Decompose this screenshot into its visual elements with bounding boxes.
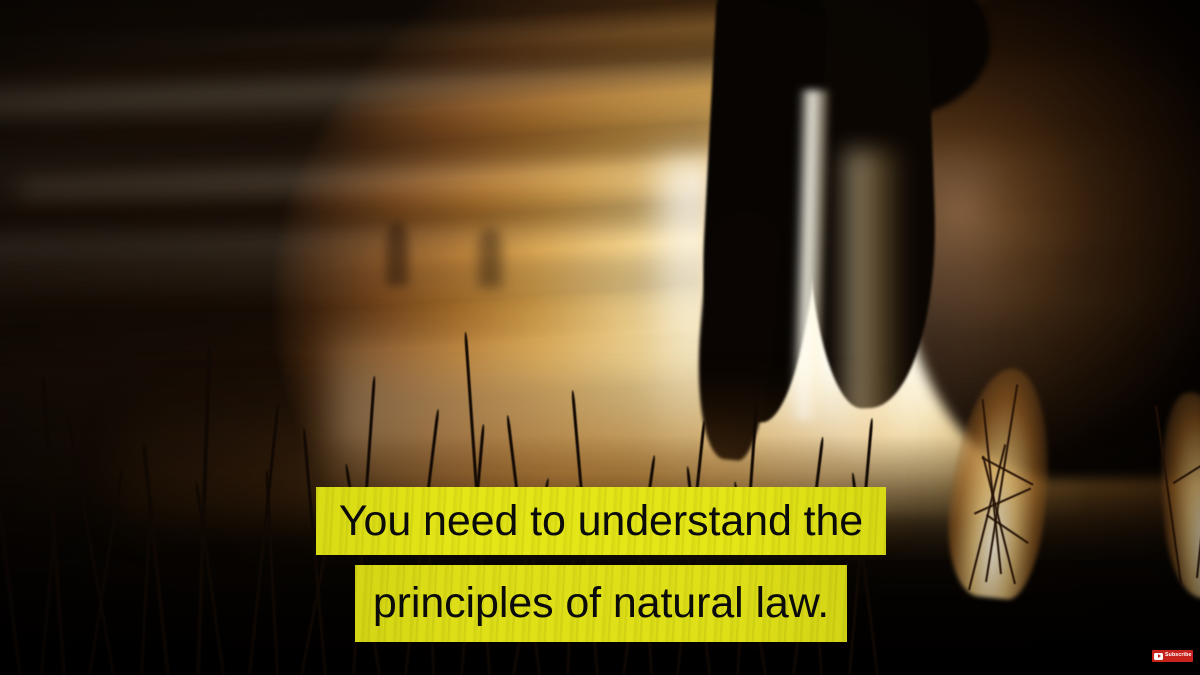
subtitle-line-1: You need to understand the — [316, 487, 886, 555]
distant-post — [478, 228, 502, 288]
subtitle-line-2: principles of natural law. — [355, 565, 847, 642]
subscribe-button[interactable]: Subscribe — [1152, 650, 1193, 662]
subtitle-line-2-text: principles of natural law. — [373, 579, 829, 628]
distant-post — [386, 222, 408, 286]
video-frame: You need to understand the principles of… — [0, 0, 1200, 675]
youtube-play-icon — [1154, 653, 1163, 660]
subscribe-button-label: Subscribe — [1165, 653, 1192, 658]
subtitle-line-1-text: You need to understand the — [339, 497, 863, 546]
